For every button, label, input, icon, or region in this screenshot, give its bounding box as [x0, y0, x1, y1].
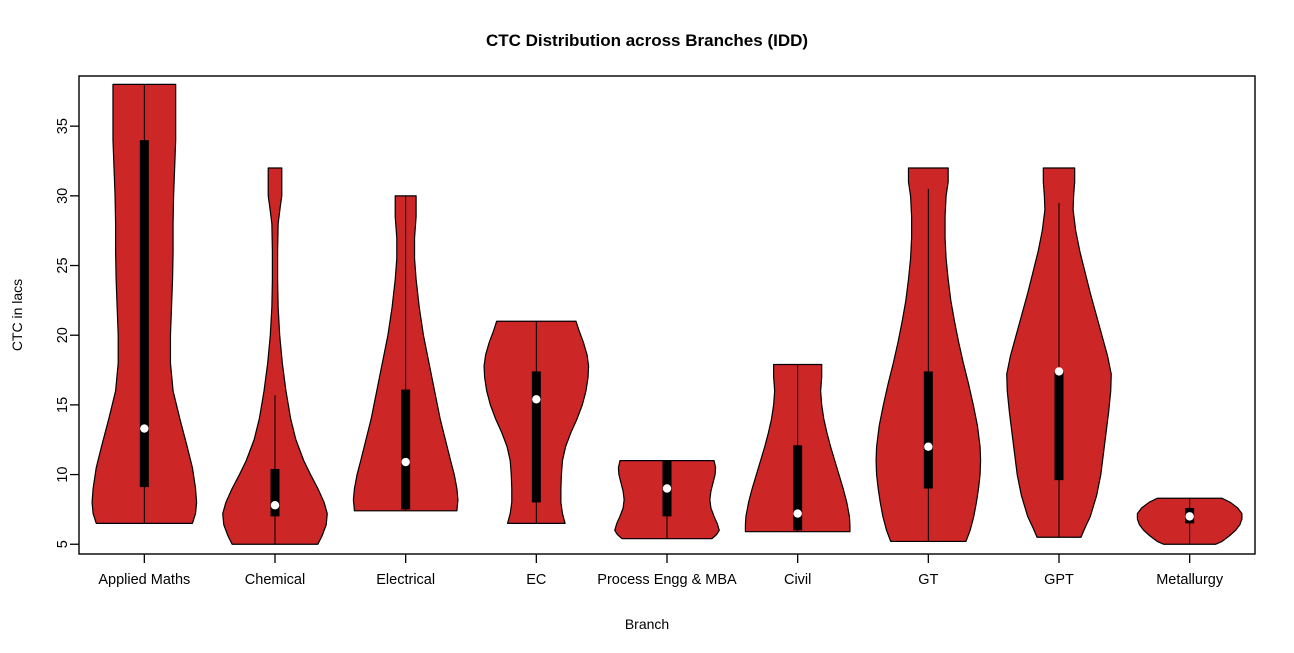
violin-process-engg-mba[interactable]: [615, 461, 720, 539]
violin-metallurgy[interactable]: [1137, 498, 1242, 544]
iqr-box: [1055, 371, 1064, 480]
y-tick-label: 20: [55, 327, 71, 343]
violin-ec[interactable]: [484, 321, 589, 523]
y-tick-label: 35: [55, 118, 71, 134]
median-marker: [401, 458, 409, 466]
y-tick-label: 15: [55, 397, 71, 413]
x-tick-label-civil: Civil: [784, 572, 811, 588]
x-tick-label-gpt: GPT: [1044, 572, 1074, 588]
violin-gpt[interactable]: [1007, 168, 1112, 537]
y-tick-label: 5: [55, 540, 71, 548]
median-marker: [924, 442, 932, 450]
median-marker: [793, 509, 801, 517]
x-tick-label-ec: EC: [526, 572, 546, 588]
y-tick-label: 30: [55, 188, 71, 204]
median-marker: [271, 501, 279, 509]
y-axis: 5101520253035: [55, 118, 79, 548]
x-tick-label-chemical: Chemical: [245, 572, 305, 588]
iqr-box: [140, 140, 149, 487]
chart-canvas: CTC Distribution across Branches (IDD) 5…: [0, 0, 1294, 653]
x-tick-label-process-engg-mba: Process Engg & MBA: [597, 572, 737, 588]
iqr-box: [924, 371, 933, 488]
x-tick-label-metallurgy: Metallurgy: [1156, 572, 1224, 588]
x-tick-label-applied-maths: Applied Maths: [98, 572, 190, 588]
iqr-box: [532, 371, 541, 502]
violin-plot-figure: CTC Distribution across Branches (IDD) 5…: [0, 0, 1294, 653]
chart-title: CTC Distribution across Branches (IDD): [486, 31, 808, 50]
x-axis: Applied MathsChemicalElectricalECProcess…: [98, 554, 1223, 588]
y-tick-label: 10: [55, 466, 71, 482]
median-marker: [532, 395, 540, 403]
median-marker: [1185, 512, 1193, 520]
x-tick-label-electrical: Electrical: [376, 572, 435, 588]
iqr-box: [401, 390, 410, 510]
x-tick-label-gt: GT: [918, 572, 938, 588]
y-axis-title: CTC in lacs: [9, 279, 25, 351]
median-marker: [1055, 367, 1063, 375]
violin-electrical[interactable]: [353, 196, 458, 511]
y-tick-label: 25: [55, 257, 71, 273]
median-marker: [140, 424, 148, 432]
violin-series-group: [92, 84, 1242, 544]
violin-applied-maths[interactable]: [92, 84, 197, 523]
violin-chemical[interactable]: [223, 168, 328, 544]
x-axis-title: Branch: [625, 616, 669, 632]
median-marker: [663, 484, 671, 492]
violin-civil[interactable]: [745, 364, 850, 531]
violin-gt[interactable]: [876, 168, 981, 541]
